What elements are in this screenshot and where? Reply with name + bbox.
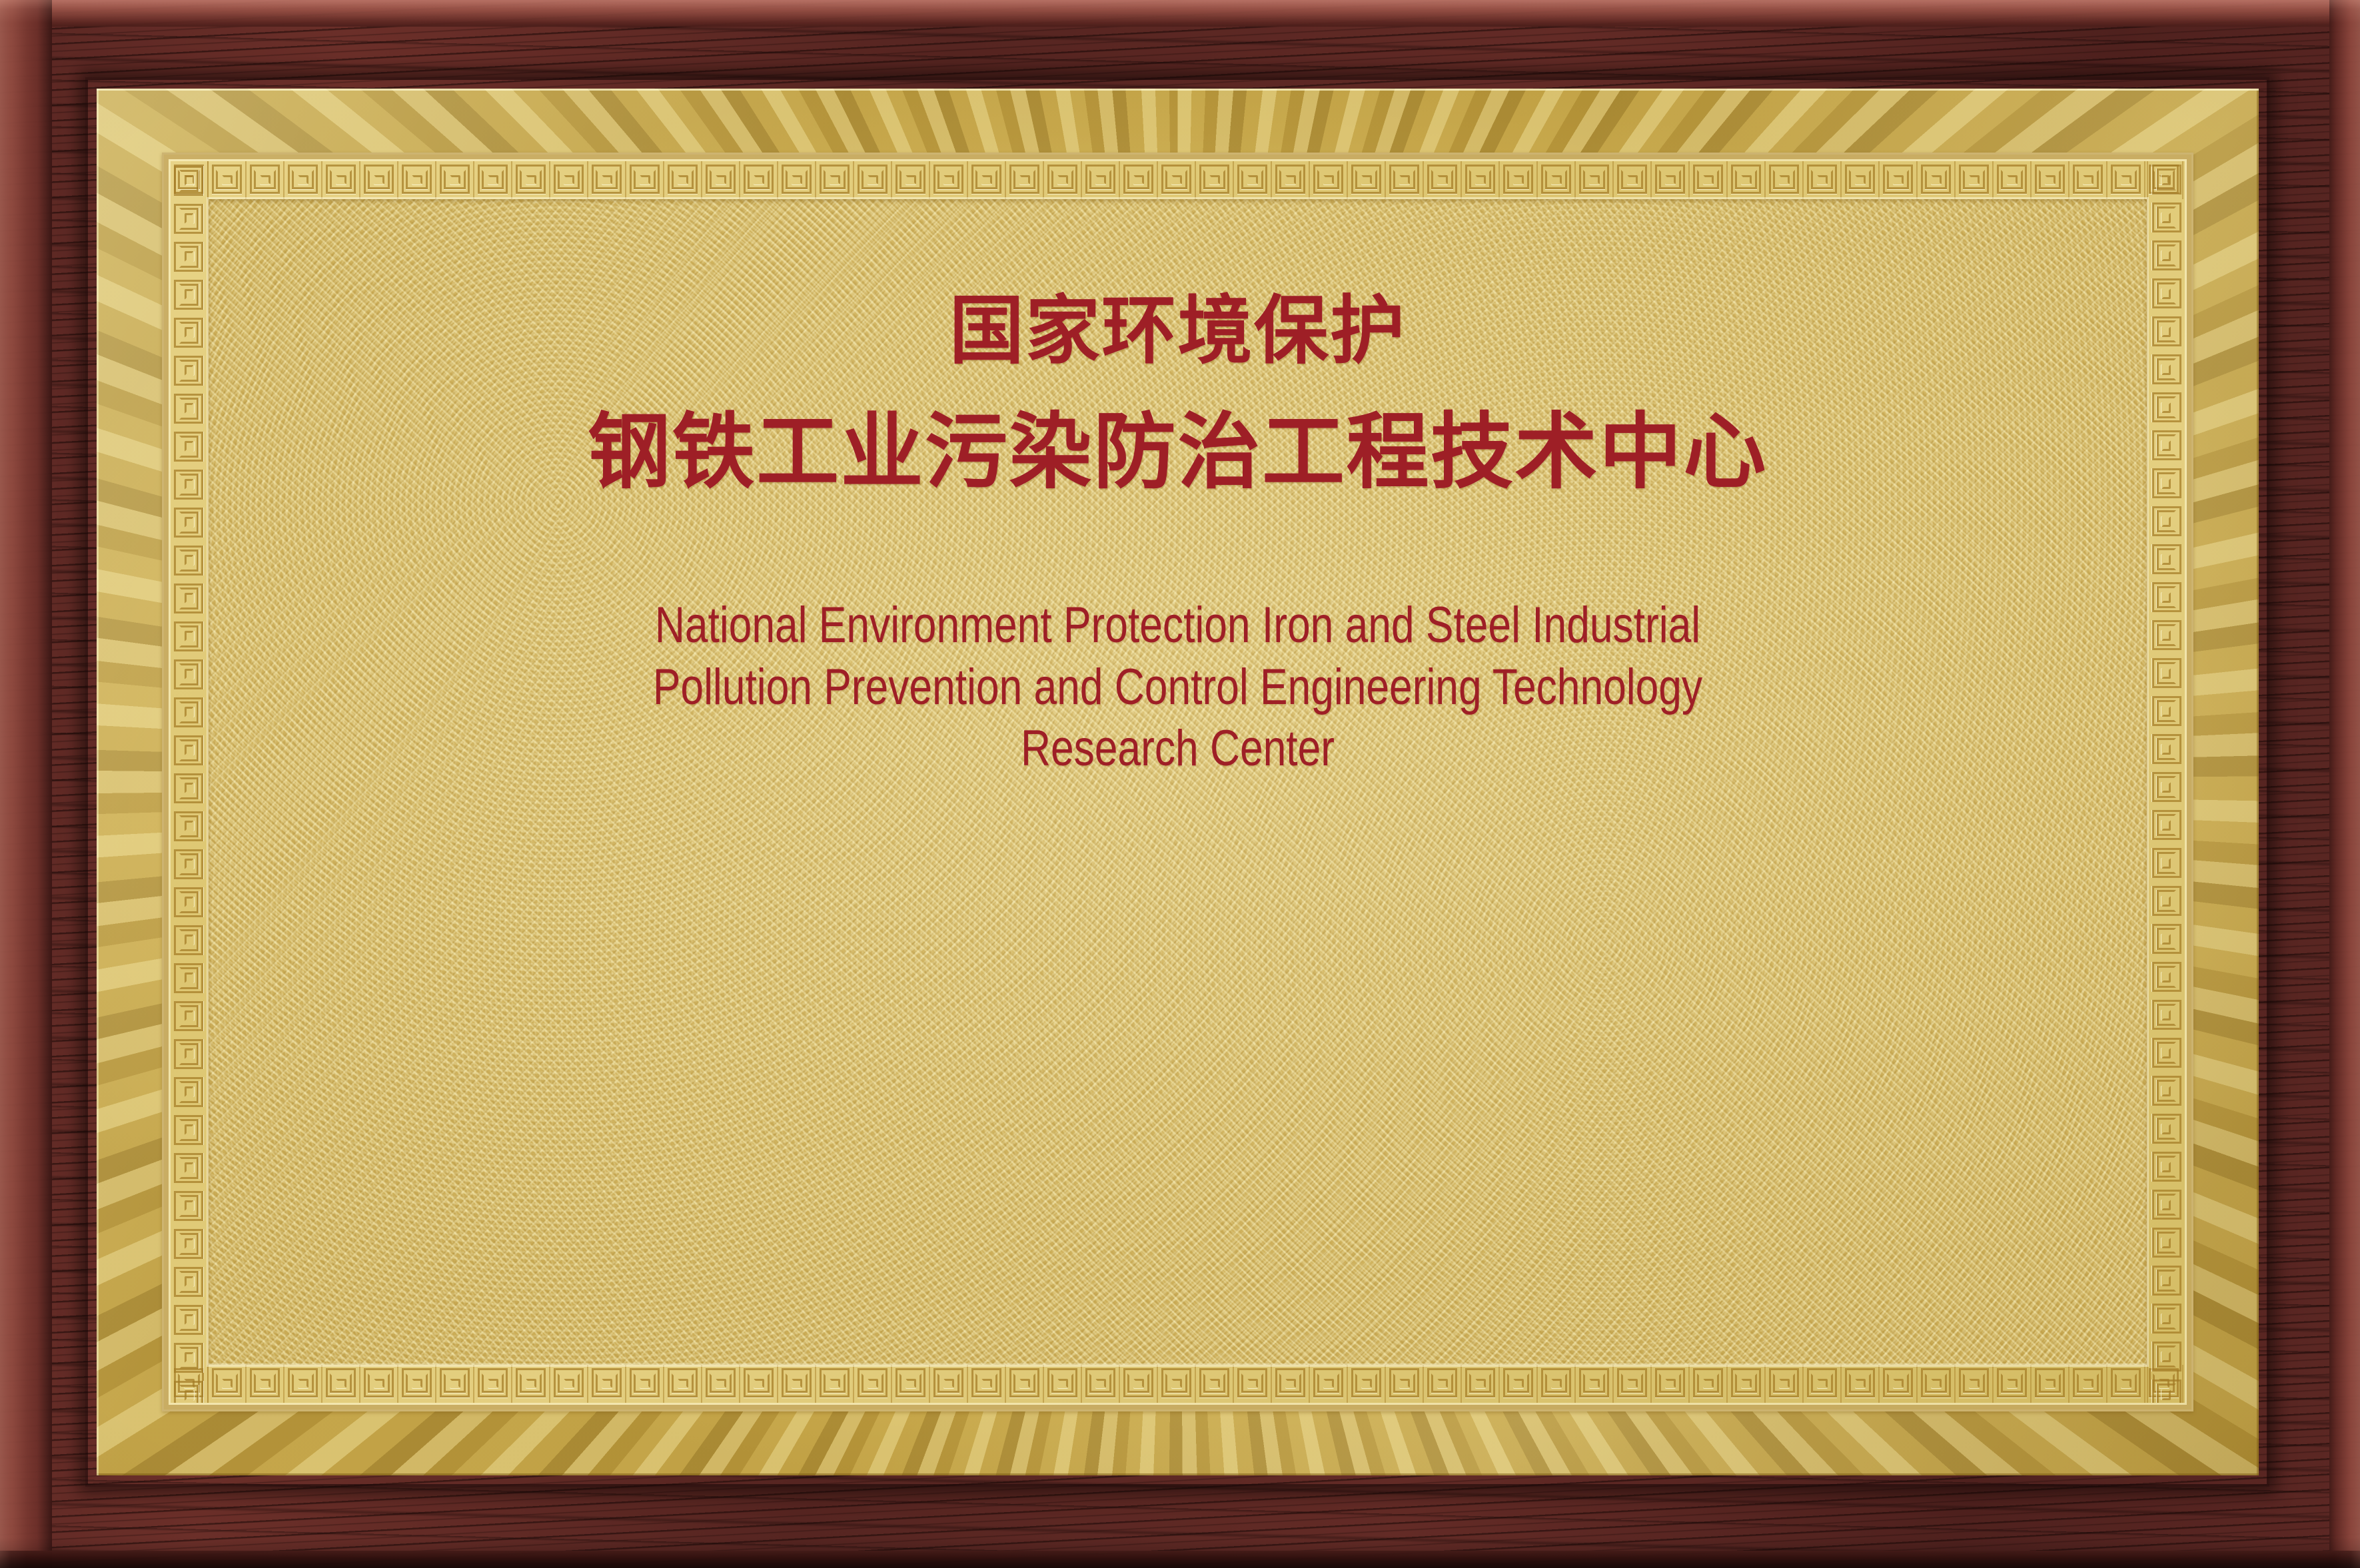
chinese-title-line-1: 国家环境保护: [949, 294, 1406, 368]
meander-run-left: [171, 161, 209, 1403]
meander-spiral-ring: [981, 1379, 992, 1388]
meander-spiral-ring: [450, 1379, 460, 1388]
meander-cell: [171, 655, 209, 693]
meander-spiral-ring: [185, 1238, 194, 1249]
meander-spiral-ring: [1399, 1379, 1410, 1388]
meander-spiral-ring: [1133, 175, 1144, 185]
meander-spiral-ring: [185, 289, 194, 300]
meander-cell: [2147, 1034, 2185, 1072]
meander-spiral-ring: [678, 175, 688, 185]
meander-cell: [1728, 161, 1766, 199]
gold-plate: 国家环境保护 钢铁工业污染防治工程技术中心 National Environme…: [97, 89, 2259, 1475]
meander-cell: [1310, 161, 1348, 199]
meander-spiral-ring: [792, 175, 802, 185]
wood-frame-bevel-left: [0, 0, 52, 1568]
meander-spiral-ring: [450, 175, 460, 185]
meander-cell: [322, 161, 360, 199]
meander-cell: [2147, 1110, 2185, 1148]
meander-spiral-ring: [1703, 1379, 1714, 1388]
meander-cell: [2147, 731, 2185, 769]
meander-cell: [1006, 1365, 1044, 1403]
meander-spiral-ring: [1703, 175, 1714, 185]
meander-cell: [892, 1365, 930, 1403]
wood-frame-bevel-bottom: [0, 1551, 2360, 1568]
meander-spiral-ring: [1893, 175, 1904, 185]
meander-cell: [1120, 1365, 1158, 1403]
meander-cell: [2147, 769, 2185, 807]
meander-spiral-ring: [1817, 175, 1828, 185]
meander-spiral-ring: [943, 1379, 954, 1388]
meander-spiral-ring: [1551, 1379, 1562, 1388]
meander-spiral-ring: [185, 403, 194, 414]
meander-spiral-ring: [602, 175, 612, 185]
meander-cell: [892, 161, 930, 199]
meander-spiral-ring: [640, 1379, 650, 1388]
meander-cell: [1272, 161, 1310, 199]
meander-cell: [171, 1034, 209, 1072]
meander-spiral-ring: [1779, 175, 1790, 185]
english-title-line-3: Research Center: [208, 718, 2147, 780]
meander-cell: [1044, 161, 1082, 199]
english-title-line-2: Pollution Prevention and Control Enginee…: [208, 657, 2147, 719]
meander-cell: [171, 617, 209, 655]
meander-cell: [2147, 579, 2185, 617]
meander-spiral-ring: [185, 935, 194, 945]
meander-spiral-ring: [2161, 782, 2171, 793]
meander-spiral-ring: [185, 973, 194, 983]
meander-cell: [2147, 1300, 2185, 1338]
meander-spiral-ring: [1437, 175, 1448, 185]
meander-cell: [2147, 996, 2185, 1034]
meander-cell: [740, 1365, 778, 1403]
meander-cell: [171, 921, 209, 959]
meander-spiral-ring: [185, 555, 194, 566]
meander-spiral-ring: [2161, 934, 2171, 945]
meander-spiral-ring: [488, 175, 498, 185]
meander-spiral-ring: [1361, 175, 1372, 185]
meander-spiral-ring: [336, 175, 346, 185]
meander-cell: [2147, 313, 2185, 351]
meander-cell: [436, 1365, 474, 1403]
meander-spiral-ring: [1019, 175, 1030, 185]
meander-spiral-ring: [602, 1379, 612, 1388]
meander-spiral-ring: [185, 479, 194, 490]
meander-cell: [171, 199, 209, 237]
meander-cell: [474, 1365, 512, 1403]
meander-cell: [171, 996, 209, 1034]
meander-cell: [1158, 161, 1196, 199]
meander-cell: [171, 389, 209, 427]
meander-cell: [1196, 161, 1234, 199]
meander-spiral-ring: [222, 175, 233, 185]
meander-spiral-ring: [260, 175, 271, 185]
meander-spiral-ring: [905, 175, 916, 185]
english-title-line-1: National Environment Protection Iron and…: [208, 595, 2147, 657]
meander-spiral-ring: [1665, 175, 1676, 185]
meander-cell: [171, 1072, 209, 1110]
meander-cell: [740, 161, 778, 199]
meander-spiral-ring: [868, 1379, 878, 1388]
meander-cell: [2147, 199, 2185, 237]
meander-spiral-ring: [1969, 175, 1980, 185]
meander-cell: [171, 807, 209, 845]
meander-spiral-ring: [2161, 364, 2171, 375]
meander-spiral-ring: [185, 1352, 194, 1363]
meander-spiral-ring: [2161, 1124, 2171, 1134]
meander-cell: [1424, 1365, 1462, 1403]
meander-spiral-ring: [2161, 250, 2171, 261]
meander-spiral-ring: [1399, 175, 1410, 185]
meander-spiral-ring: [2161, 630, 2171, 641]
meander-spiral-ring: [2161, 326, 2171, 337]
meander-spiral-ring: [185, 707, 194, 717]
meander-spiral-ring: [2045, 1379, 2056, 1388]
meander-cell: [1576, 161, 1614, 199]
meander-spiral-ring: [1931, 1379, 1942, 1388]
meander-spiral-ring: [298, 1379, 308, 1388]
meander-cell: [2147, 959, 2185, 996]
meander-spiral-ring: [1475, 1379, 1486, 1388]
meander-spiral-ring: [185, 1124, 194, 1135]
meander-run-top: [171, 161, 2185, 199]
meander-cell: [2147, 351, 2185, 389]
meander-spiral-ring: [2161, 212, 2171, 223]
meander-spiral-ring: [1095, 1379, 1106, 1388]
meander-spiral-ring: [1285, 1379, 1296, 1388]
meander-spiral-ring: [564, 175, 574, 185]
meander-cell: [1462, 1365, 1500, 1403]
meander-cell: [171, 275, 209, 313]
meander-cell: [171, 161, 209, 199]
meander-cell: [702, 161, 740, 199]
meander-spiral-ring: [1247, 175, 1258, 185]
meander-spiral-ring: [1133, 1379, 1144, 1388]
meander-spiral-ring: [2161, 288, 2171, 299]
meander-cell: [626, 161, 664, 199]
meander-spiral-ring: [2161, 1314, 2171, 1324]
meander-spiral-ring: [374, 175, 384, 185]
meander-spiral-ring: [1285, 175, 1296, 185]
meander-spiral-ring: [1969, 1379, 1980, 1388]
meander-spiral-ring: [1741, 1379, 1752, 1388]
meander-cell: [171, 1110, 209, 1148]
meander-spiral-ring: [185, 441, 194, 452]
meander-cell: [2147, 617, 2185, 655]
meander-spiral-ring: [1171, 175, 1182, 185]
meander-cell: [1234, 161, 1272, 199]
meander-spiral-ring: [2161, 896, 2171, 907]
meander-cell: [2147, 541, 2185, 579]
meander-spiral-ring: [185, 213, 194, 224]
meander-cell: [2147, 921, 2185, 959]
meander-cell: [1462, 161, 1500, 199]
meander-cell: [171, 579, 209, 617]
meander-cell: [1766, 1365, 1804, 1403]
meander-cell: [512, 161, 550, 199]
meander-spiral-ring: [2161, 1352, 2171, 1362]
meander-spiral-ring: [2121, 1379, 2131, 1388]
meander-cell: [285, 161, 322, 199]
meander-spiral-ring: [185, 1086, 194, 1097]
meander-run-bottom: [171, 1365, 2185, 1403]
meander-cell: [171, 351, 209, 389]
meander-cell: [702, 1365, 740, 1403]
meander-cell: [2032, 161, 2069, 199]
meander-cell: [247, 1365, 285, 1403]
meander-spiral-ring: [2161, 1010, 2171, 1020]
meander-cell: [171, 1148, 209, 1186]
meander-cell: [2147, 845, 2185, 883]
meander-cell: [1538, 1365, 1576, 1403]
meander-cell: [968, 161, 1006, 199]
meander-spiral-ring: [2007, 175, 2018, 185]
meander-cell: [1538, 161, 1576, 199]
meander-cell: [2147, 1338, 2185, 1376]
meander-spiral-ring: [754, 1379, 764, 1388]
meander-spiral-ring: [185, 1162, 194, 1173]
meander-spiral-ring: [1551, 175, 1562, 185]
meander-spiral-ring: [2161, 1200, 2171, 1210]
meander-cell: [171, 465, 209, 503]
meander-spiral-ring: [905, 1379, 916, 1388]
meander-spiral-ring: [716, 175, 726, 185]
meander-spiral-ring: [185, 1314, 194, 1325]
meander-spiral-ring: [185, 1200, 194, 1211]
meander-spiral-ring: [2045, 175, 2056, 185]
meander-spiral-ring: [1057, 1379, 1068, 1388]
meander-spiral-ring: [2161, 478, 2171, 489]
meander-cell: [1158, 1365, 1196, 1403]
meander-cell: [1690, 161, 1728, 199]
meander-cell: [930, 1365, 968, 1403]
meander-spiral-ring: [1323, 175, 1334, 185]
meander-spiral-ring: [1361, 1379, 1372, 1388]
meander-spiral-ring: [526, 1379, 536, 1388]
meander-cell: [1120, 161, 1158, 199]
meander-spiral-ring: [185, 327, 194, 338]
meander-spiral-ring: [2161, 1389, 2171, 1400]
meander-spiral-ring: [222, 1379, 233, 1388]
meander-spiral-ring: [830, 1379, 840, 1388]
meander-cell: [2069, 161, 2107, 199]
meander-cell: [930, 161, 968, 199]
meander-spiral-ring: [336, 1379, 346, 1388]
meander-spiral-ring: [185, 517, 194, 528]
meander-cell: [550, 161, 588, 199]
meander-spiral-ring: [2161, 972, 2171, 982]
meander-spiral-ring: [185, 251, 194, 262]
meander-spiral-ring: [2161, 592, 2171, 603]
award-plaque: 国家环境保护 钢铁工业污染防治工程技术中心 National Environme…: [0, 0, 2360, 1568]
meander-spiral-ring: [792, 1379, 802, 1388]
meander-cell: [1652, 1365, 1690, 1403]
meander-spiral-ring: [868, 175, 878, 185]
meander-cell: [1994, 1365, 2032, 1403]
meander-spiral-ring: [1855, 1379, 1866, 1388]
meander-cell: [664, 161, 702, 199]
chinese-title-line-2: 钢铁工业污染防治工程技术中心: [588, 411, 1768, 494]
meander-spiral-ring: [981, 175, 992, 185]
meander-cell: [1804, 161, 1842, 199]
meander-cell: [285, 1365, 322, 1403]
meander-cell: [1500, 161, 1538, 199]
meander-cell: [2147, 275, 2185, 313]
meander-spiral-ring: [640, 175, 650, 185]
meander-cell: [171, 883, 209, 921]
meander-cell: [1918, 1365, 1956, 1403]
meander-cell: [2147, 807, 2185, 845]
meander-cell: [1842, 161, 1880, 199]
meander-cell: [171, 503, 209, 541]
meander-cell: [2147, 883, 2185, 921]
meander-run-right: [2147, 161, 2185, 1403]
meander-spiral-ring: [2161, 440, 2171, 451]
meander-cell: [1804, 1365, 1842, 1403]
meander-spiral-ring: [185, 745, 194, 755]
meander-cell: [1918, 161, 1956, 199]
meander-spiral-ring: [2161, 516, 2171, 527]
meander-cell: [2147, 389, 2185, 427]
meander-cell: [2147, 693, 2185, 731]
meander-spiral-ring: [1095, 175, 1106, 185]
meander-spiral-ring: [2161, 744, 2171, 755]
meander-spiral-ring: [185, 669, 194, 679]
meander-cell: [2147, 1148, 2185, 1186]
meander-spiral-ring: [1475, 175, 1486, 185]
meander-cell: [1614, 161, 1652, 199]
meander-cell: [2107, 161, 2145, 199]
meander-cell: [360, 161, 398, 199]
meander-cell: [816, 1365, 854, 1403]
meander-cell: [2147, 1262, 2185, 1300]
meander-cell: [2147, 655, 2185, 693]
meander-cell: [1386, 1365, 1424, 1403]
meander-spiral-ring: [298, 175, 308, 185]
meander-spiral-ring: [1057, 175, 1068, 185]
meander-cell: [322, 1365, 360, 1403]
meander-cell: [171, 1376, 209, 1403]
meander-cell: [171, 845, 209, 883]
meander-spiral-ring: [1209, 175, 1220, 185]
meander-cell: [1690, 1365, 1728, 1403]
meander-spiral-ring: [2161, 1048, 2171, 1058]
meander-cell: [2147, 1376, 2185, 1403]
meander-cell: [1576, 1365, 1614, 1403]
meander-cell: [171, 693, 209, 731]
meander-spiral-ring: [1171, 1379, 1182, 1388]
meander-cell: [1348, 1365, 1386, 1403]
meander-spiral-ring: [1779, 1379, 1790, 1388]
meander-spiral-ring: [1589, 175, 1600, 185]
meander-cell: [436, 161, 474, 199]
meander-cell: [512, 1365, 550, 1403]
meander-cell: [2032, 1365, 2069, 1403]
wood-frame-bevel-right: [2329, 0, 2360, 1568]
meander-spiral-ring: [185, 631, 194, 641]
meander-cell: [550, 1365, 588, 1403]
meander-spiral-ring: [1741, 175, 1752, 185]
meander-cell: [171, 1186, 209, 1224]
meander-spiral-ring: [412, 1379, 422, 1388]
meander-cell: [1500, 1365, 1538, 1403]
meander-cell: [2147, 1224, 2185, 1262]
meander-spiral-ring: [1931, 175, 1942, 185]
meander-cell: [171, 1224, 209, 1262]
meander-cell: [854, 161, 892, 199]
meander-cell: [1386, 161, 1424, 199]
meander-spiral-ring: [185, 897, 194, 907]
meander-cell: [1614, 1365, 1652, 1403]
meander-cell: [171, 313, 209, 351]
meander-cell: [398, 161, 436, 199]
meander-cell: [474, 161, 512, 199]
meander-spiral-ring: [1627, 175, 1638, 185]
meander-spiral-ring: [185, 365, 194, 376]
meander-cell: [816, 161, 854, 199]
meander-cell: [209, 161, 247, 199]
meander-cell: [1880, 161, 1918, 199]
meander-cell: [171, 1262, 209, 1300]
meander-spiral-ring: [2161, 402, 2171, 413]
meander-cell: [778, 1365, 816, 1403]
meander-spiral-ring: [830, 175, 840, 185]
meander-cell: [171, 541, 209, 579]
meander-cell: [1424, 161, 1462, 199]
meander-spiral-ring: [2161, 554, 2171, 565]
meander-spiral-ring: [185, 821, 194, 831]
meander-cell: [1728, 1365, 1766, 1403]
meander-cell: [968, 1365, 1006, 1403]
meander-cell: [1234, 1365, 1272, 1403]
meander-spiral-ring: [1665, 1379, 1676, 1388]
meander-spiral-ring: [185, 175, 194, 186]
meander-cell: [1082, 161, 1120, 199]
meander-spiral-ring: [2161, 1276, 2171, 1286]
meander-spiral-ring: [678, 1379, 688, 1388]
meander-spiral-ring: [564, 1379, 574, 1388]
meander-cell: [171, 769, 209, 807]
meander-cell: [1006, 161, 1044, 199]
meander-spiral-ring: [2161, 858, 2171, 869]
meander-cell: [2147, 503, 2185, 541]
meander-spiral-ring: [2161, 706, 2171, 717]
meander-spiral-ring: [2161, 1086, 2171, 1096]
meander-cell: [171, 427, 209, 465]
meander-spiral-ring: [185, 593, 194, 603]
meander-cell: [171, 1338, 209, 1376]
meander-spiral-ring: [1589, 1379, 1600, 1388]
meander-spiral-ring: [1513, 1379, 1524, 1388]
meander-cell: [2147, 1186, 2185, 1224]
meander-cell: [1044, 1365, 1082, 1403]
meander-cell: [2147, 1072, 2185, 1110]
meander-cell: [664, 1365, 702, 1403]
meander-spiral-ring: [2161, 668, 2171, 679]
meander-cell: [1766, 161, 1804, 199]
meander-cell: [626, 1365, 664, 1403]
meander-spiral-ring: [2161, 175, 2171, 185]
meander-cell: [1652, 161, 1690, 199]
meander-spiral-ring: [185, 1048, 194, 1059]
meander-spiral-ring: [260, 1379, 271, 1388]
meander-cell: [2107, 1365, 2145, 1403]
meander-cell: [1880, 1365, 1918, 1403]
meander-spiral-ring: [185, 1276, 194, 1287]
meander-cell: [1082, 1365, 1120, 1403]
meander-cell: [1348, 161, 1386, 199]
meander-spiral-ring: [1209, 1379, 1220, 1388]
meander-cell: [360, 1365, 398, 1403]
